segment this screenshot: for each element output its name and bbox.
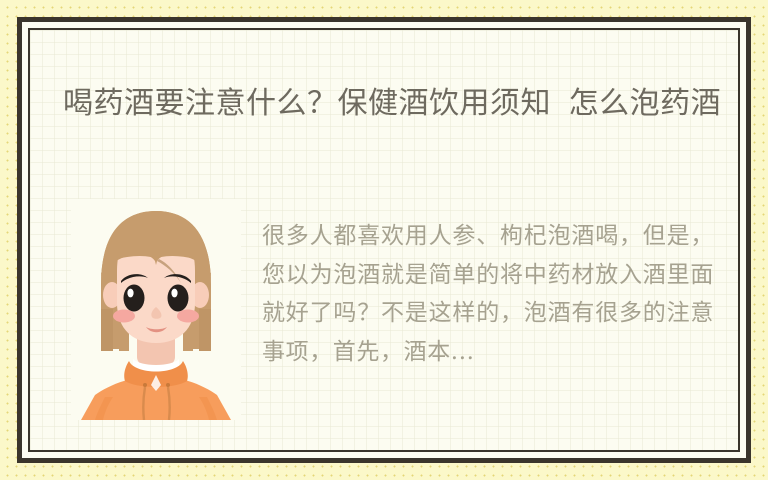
article-title: 喝药酒要注意什么？保健酒饮用须知 怎么泡药酒: [63, 83, 740, 125]
blush-left: [113, 310, 135, 323]
avatar: [71, 199, 241, 420]
outer-border-frame: 喝药酒要注意什么？保健酒饮用须知 怎么泡药酒: [17, 17, 751, 463]
drawstring-eyelet-left: [143, 383, 147, 387]
eye-highlight-right: [171, 289, 177, 298]
decorative-page-background: 喝药酒要注意什么？保健酒饮用须知 怎么泡药酒: [0, 0, 768, 480]
article-summary: 很多人都喜欢用人参、枸杞泡酒喝，但是，您以为泡酒就是简单的将中药材放入酒里面就好…: [262, 217, 714, 371]
inner-border-frame: 喝药酒要注意什么？保健酒饮用须知 怎么泡药酒: [28, 28, 740, 452]
article-card: 喝药酒要注意什么？保健酒饮用须知 怎么泡药酒: [30, 30, 738, 450]
drawstring-eyelet-right: [166, 383, 170, 387]
female-avatar-icon: [71, 199, 241, 420]
eye-highlight-left: [127, 289, 133, 298]
eye-left: [124, 285, 145, 312]
article-body-row: 很多人都喜欢用人参、枸杞泡酒喝，但是，您以为泡酒就是简单的将中药材放入酒里面就好…: [30, 190, 738, 440]
eye-right: [168, 285, 189, 312]
blush-right: [177, 310, 199, 323]
